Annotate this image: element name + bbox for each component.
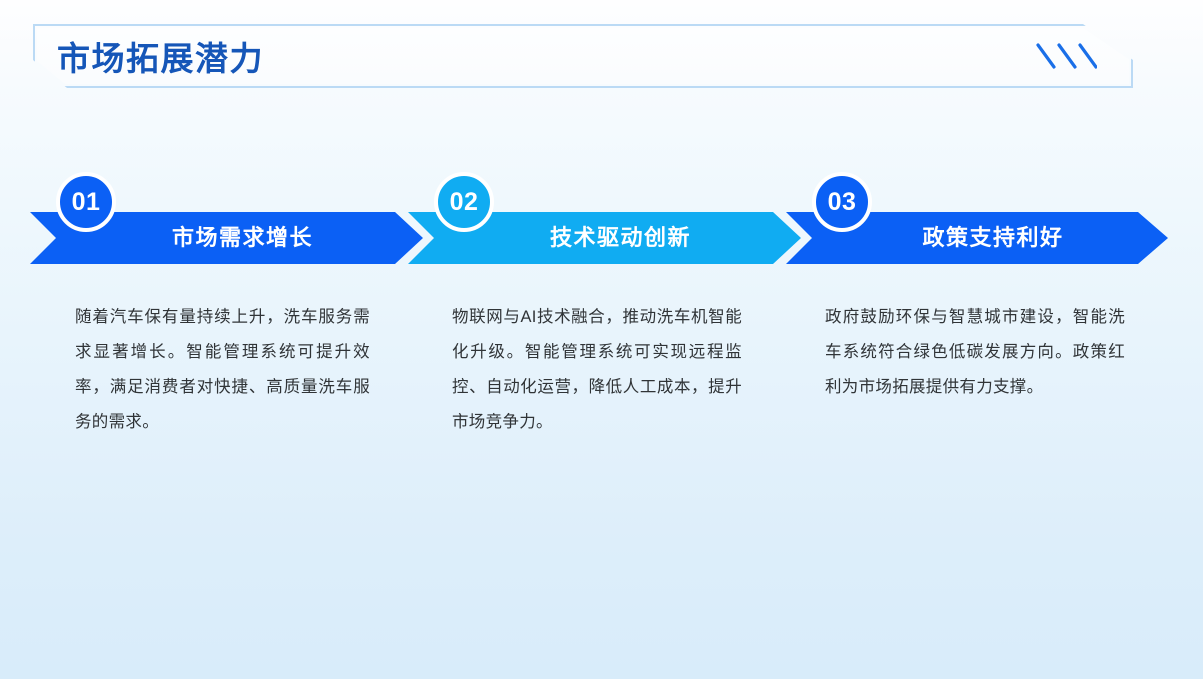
page-title: 市场拓展潜力 [57, 32, 264, 80]
step-description-3: 政府鼓励环保与智慧城市建设，智能洗车系统符合绿色低碳发展方向。政策红利为市场拓展… [825, 300, 1125, 405]
step-description-2: 物联网与AI技术融合，推动洗车机智能化升级。智能管理系统可实现远程监控、自动化运… [452, 300, 742, 440]
step-item-3[interactable]: 政策支持利好 03 [786, 212, 1168, 264]
step-number-badge-1: 01 [56, 172, 116, 232]
step-item-1[interactable]: 市场需求增长 01 [30, 212, 423, 264]
step-item-2[interactable]: 技术驱动创新 02 [408, 212, 801, 264]
process-steps: 市场需求增长 01 技术驱动创新 02 政策支持利好 03 [30, 212, 1168, 264]
slash-decoration-icon [1035, 41, 1097, 71]
step-number-badge-2: 02 [434, 172, 494, 232]
page-header: 市场拓展潜力 [33, 24, 1133, 88]
step-number-badge-3: 03 [812, 172, 872, 232]
step-description-1: 随着汽车保有量持续上升，洗车服务需求显著增长。智能管理系统可提升效率，满足消费者… [75, 300, 370, 440]
step-descriptions: 随着汽车保有量持续上升，洗车服务需求显著增长。智能管理系统可提升效率，满足消费者… [0, 300, 1203, 480]
